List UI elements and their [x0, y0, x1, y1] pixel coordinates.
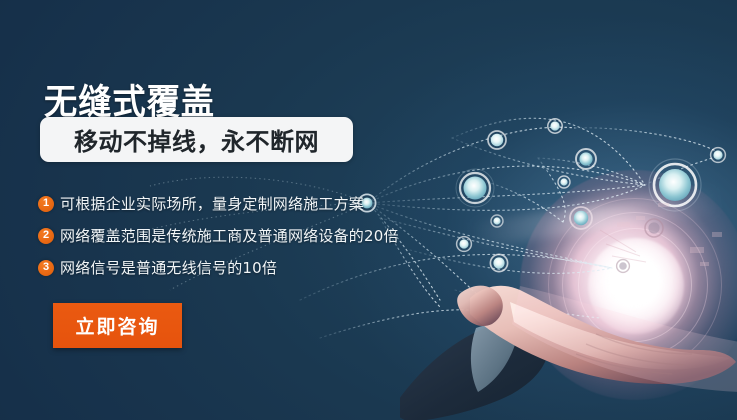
consult-now-label: 立即咨询 — [75, 312, 159, 339]
subtitle-box: 移动不掉线，永不断网 — [40, 117, 353, 162]
tech-blocks — [617, 203, 722, 266]
tech-ticks — [600, 230, 646, 262]
list-item: 1 可根据企业实际场所，量身定制网络施工方案 — [38, 190, 398, 217]
bullet-number-badge: 3 — [38, 260, 54, 276]
bullet-number-badge: 2 — [38, 228, 54, 244]
bullet-number-badge: 1 — [38, 196, 54, 212]
promo-banner: 无缝式覆盖 移动不掉线，永不断网 1 可根据企业实际场所，量身定制网络施工方案 … — [0, 0, 737, 420]
list-item: 3 网络信号是普通无线信号的10倍 — [38, 254, 398, 281]
bullet-text: 可根据企业实际场所，量身定制网络施工方案 — [60, 193, 364, 214]
bullet-text: 网络信号是普通无线信号的10倍 — [60, 257, 277, 278]
bullet-text: 网络覆盖范围是传统施工商及普通网络设备的20倍 — [60, 225, 399, 246]
consult-now-button[interactable]: 立即咨询 — [53, 303, 182, 348]
feature-list: 1 可根据企业实际场所，量身定制网络施工方案 2 网络覆盖范围是传统施工商及普通… — [38, 190, 398, 286]
banner-content: 无缝式覆盖 移动不掉线，永不断网 1 可根据企业实际场所，量身定制网络施工方案 … — [0, 0, 420, 420]
subtitle-text: 移动不掉线，永不断网 — [74, 122, 319, 157]
list-item: 2 网络覆盖范围是传统施工商及普通网络设备的20倍 — [38, 222, 398, 249]
